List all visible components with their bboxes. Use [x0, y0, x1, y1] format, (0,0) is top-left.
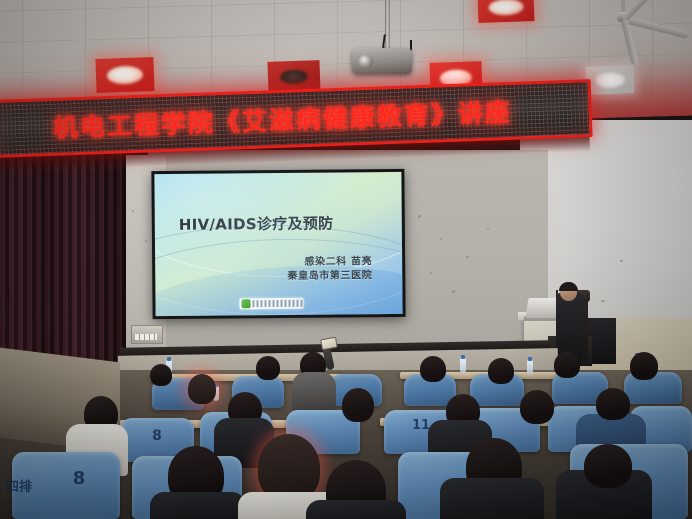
- stage-curtain: [0, 140, 126, 380]
- water-bottle: [460, 358, 466, 373]
- audience-head: [630, 352, 658, 380]
- audience-head: [554, 352, 580, 378]
- bottle-cap: [167, 357, 171, 361]
- pa-speaker-cabinet: [588, 318, 616, 364]
- wall-mark: [418, 215, 421, 218]
- recessed-light-4: [477, 0, 534, 23]
- row-label-text: 四排: [6, 480, 32, 495]
- lecture-hall-photo: 机电工程学院《艾滋病健康教育》讲座 HIV/AIDS诊疗及预防 感染二科 苗亮 …: [0, 0, 692, 519]
- slide-logo: [239, 298, 303, 310]
- recessed-light-1: [95, 57, 154, 93]
- bottle-cap: [528, 357, 532, 361]
- wall-mark: [440, 238, 442, 240]
- audience-head: [188, 374, 216, 404]
- audience-body: [440, 478, 544, 519]
- audience-head: [420, 356, 446, 382]
- slide-title: HIV/AIDS诊疗及预防: [179, 213, 334, 235]
- audience-head: [488, 358, 514, 384]
- wall-mark: [466, 256, 469, 258]
- wall-mark: [620, 260, 623, 262]
- projector-lens-icon: [358, 55, 373, 68]
- projector: [352, 48, 412, 74]
- water-bottle: [527, 360, 533, 375]
- wall-mark: [145, 240, 147, 242]
- audience-head: [596, 388, 630, 420]
- light-bulb-glow: [488, 0, 523, 15]
- seat-number: 8: [152, 428, 162, 444]
- light-bulb-glow: [107, 66, 144, 85]
- wall-mark: [601, 300, 605, 302]
- wall-mark: [452, 290, 455, 293]
- light-bulb-glow: [595, 72, 625, 88]
- audience-body: [150, 492, 246, 519]
- audience-head: [584, 444, 632, 488]
- light-bulb-off: [280, 69, 309, 84]
- audience-body: [292, 372, 336, 412]
- panel-switches-icon: [135, 334, 157, 340]
- logo-mark-icon: [241, 299, 250, 308]
- audience-head: [150, 364, 172, 386]
- audience-body: [306, 500, 406, 519]
- wall-mark: [430, 272, 432, 274]
- presentation-slide: HIV/AIDS诊疗及预防 感染二科 苗亮 秦皇岛市第三医院: [154, 172, 402, 316]
- row-label: 四排: [6, 480, 32, 495]
- recessed-light-5: [586, 65, 635, 95]
- seat-number: 8: [73, 468, 86, 489]
- bottle-cap: [461, 355, 465, 359]
- slide-organization: 秦皇岛市第三医院: [287, 266, 372, 282]
- wall-mark: [132, 210, 134, 212]
- wall-mark: [487, 228, 489, 230]
- audience-head: [256, 356, 280, 380]
- audience-head: [342, 388, 374, 422]
- audience-head: [520, 390, 554, 424]
- logo-wordmark: [252, 300, 303, 307]
- electrical-panel: [131, 325, 163, 344]
- curtain-pleats: [0, 140, 126, 380]
- projection-screen: HIV/AIDS诊疗及预防 感染二科 苗亮 秦皇岛市第三医院: [151, 169, 405, 319]
